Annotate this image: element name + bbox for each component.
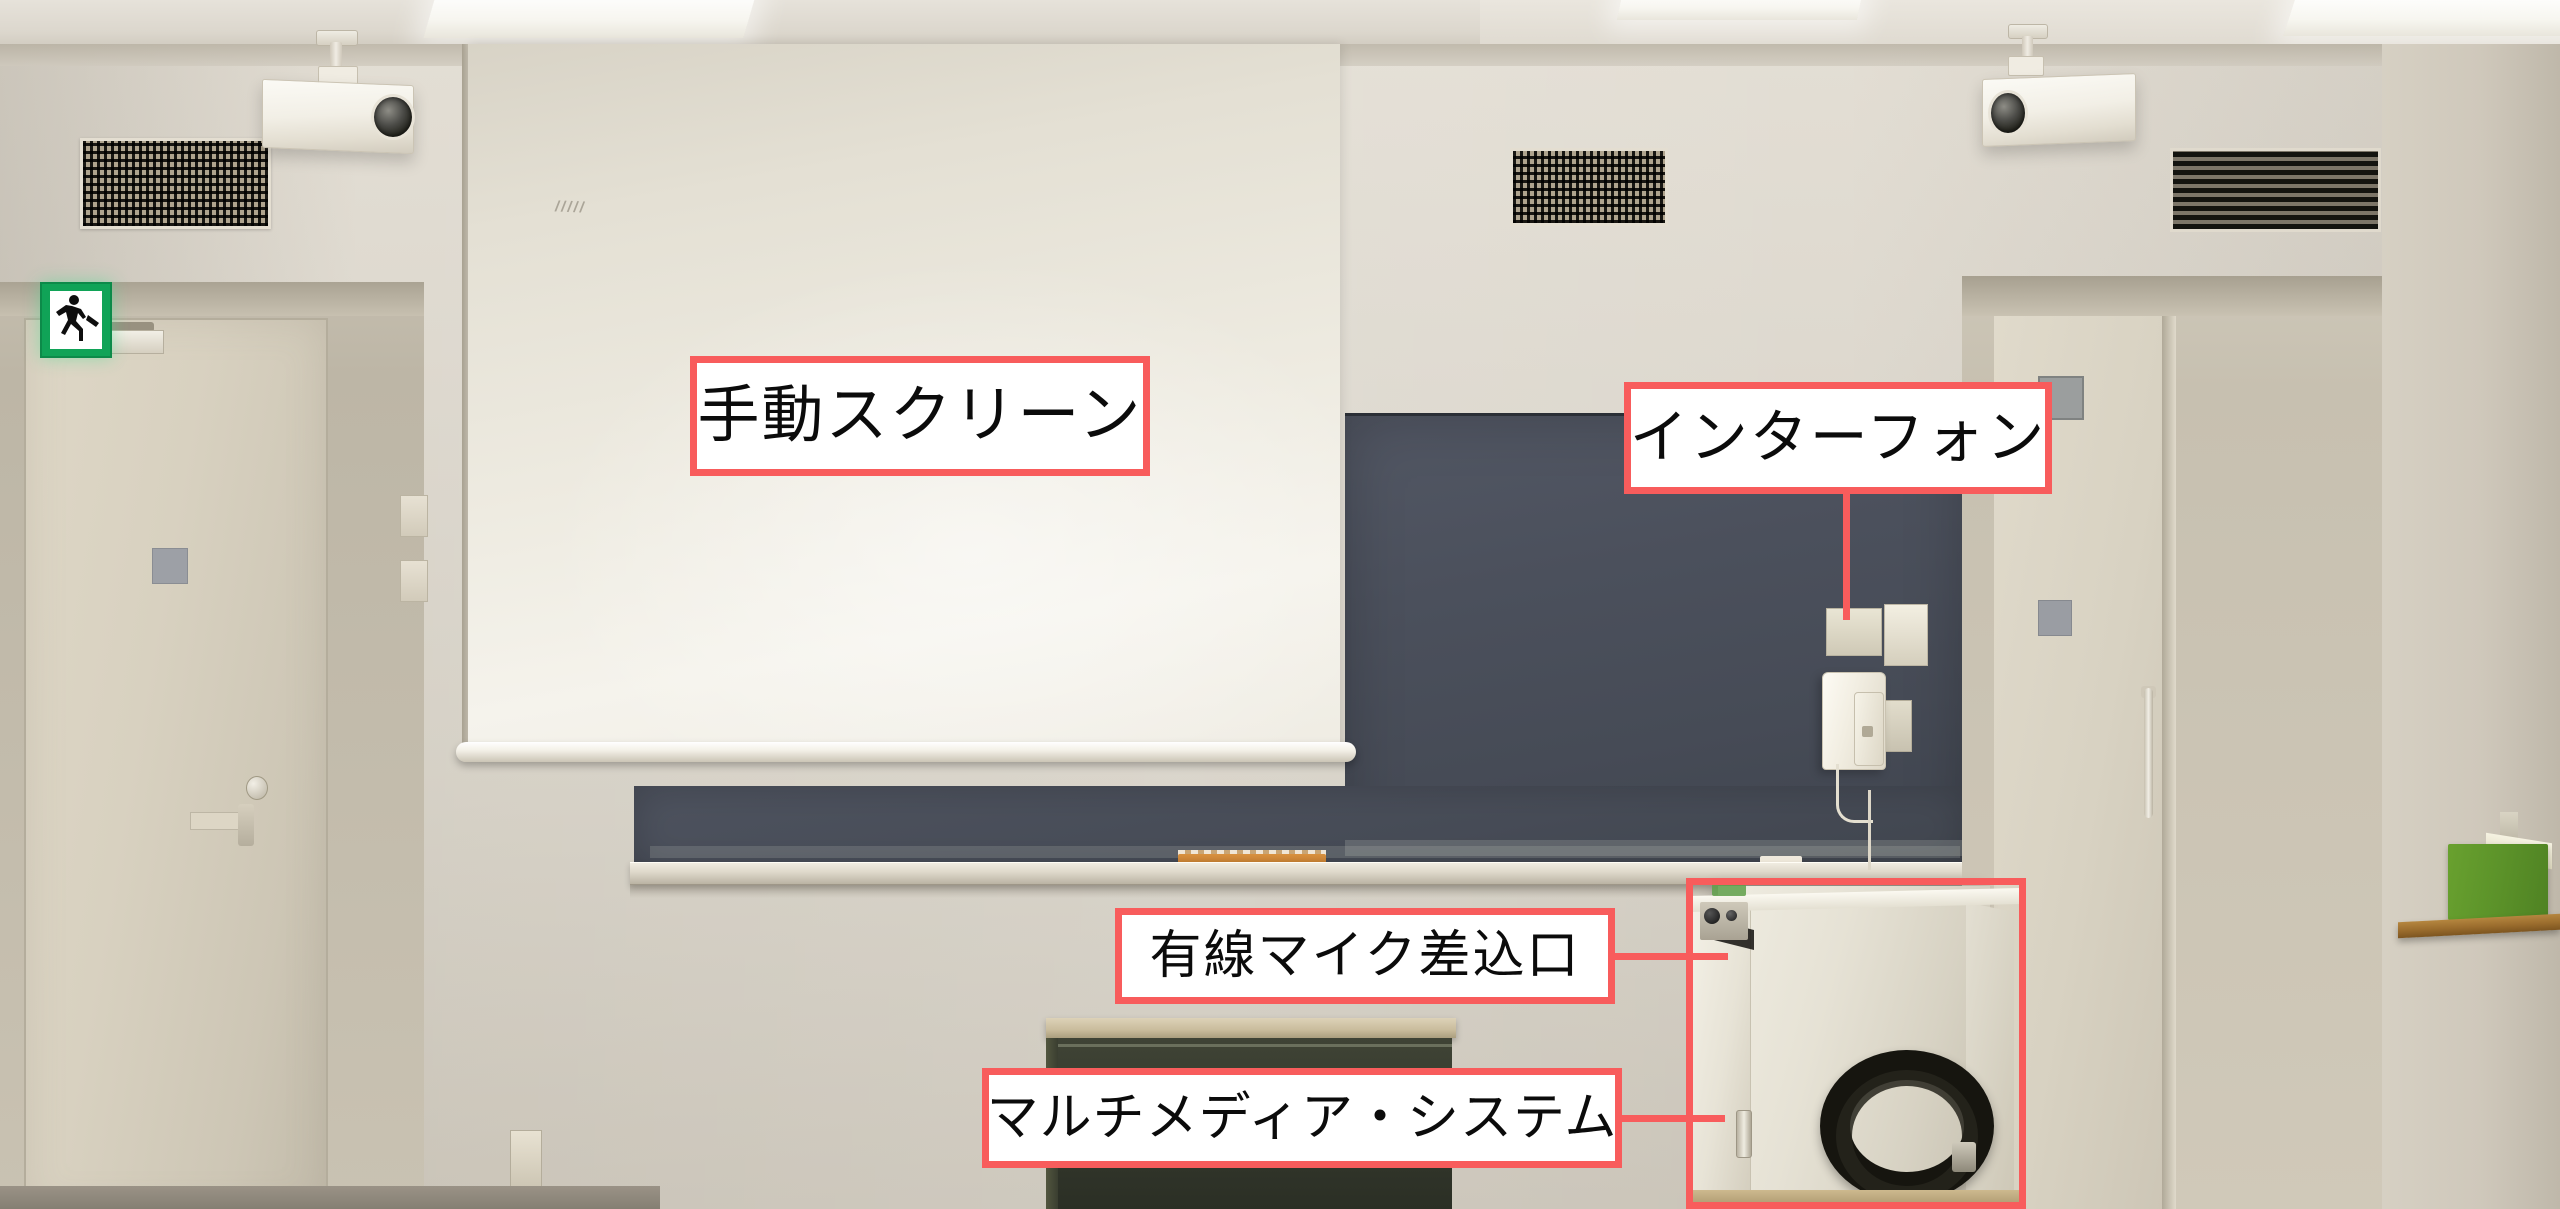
wall-outlet[interactable]	[510, 1130, 542, 1188]
leader-line-multimedia-system	[1615, 1115, 1725, 1122]
projector-mount-rod-left	[330, 42, 342, 68]
hvac-vent-left	[80, 138, 271, 229]
ceiling-light-middle	[1617, 0, 1863, 20]
right-door-jamb	[2162, 316, 2176, 1209]
tissue-box-on-shelf	[2448, 844, 2548, 920]
projector-yoke-right	[2008, 56, 2044, 76]
door-left[interactable]	[24, 318, 328, 1209]
wall-switch-plate-upper[interactable]	[400, 495, 428, 537]
leader-line-wired-mic-jack	[1608, 953, 1728, 960]
vent-grille-icon	[1513, 151, 1665, 223]
lectern-edge-highlight	[1056, 1044, 1452, 1047]
floor-strip	[0, 1186, 660, 1209]
annotation-label-wired-mic-jack: 有線マイク差込口	[1115, 908, 1615, 1004]
screenshot-root: ///// /////	[0, 0, 2560, 1209]
right-outer-wall	[2382, 44, 2560, 1209]
annotation-label-multimedia-system: マルチメディア・システム	[982, 1068, 1622, 1168]
right-door-handle-icon[interactable]	[2144, 688, 2153, 818]
hvac-vent-right	[2170, 148, 2381, 232]
annotation-text-multimedia-system: マルチメディア・システム	[987, 1092, 1618, 1144]
projector-brand-mark-left: /////	[555, 198, 586, 216]
annotation-text-wired-mic-jack: 有線マイク差込口	[1150, 930, 1581, 982]
ceiling-light-right	[2283, 0, 2560, 36]
annotation-label-manual-screen: 手動スクリーン	[690, 356, 1150, 476]
exit-running-man-glyph	[50, 291, 102, 349]
annotation-label-intercom: インターフォン	[1624, 382, 2052, 494]
vent-grille-icon	[83, 141, 268, 226]
intercom-wall-plate	[1826, 608, 1882, 656]
emergency-exit-sign	[40, 282, 112, 358]
projector-lens-icon-left	[371, 94, 415, 140]
door-knob-icon[interactable]	[246, 776, 268, 800]
running-man-icon	[50, 291, 102, 349]
right-door-vision-panel	[2038, 600, 2072, 636]
intercom-call-button[interactable]	[1862, 726, 1873, 737]
screen-bottom-bar[interactable]	[456, 742, 1356, 762]
annotation-text-manual-screen: 手動スクリーン	[698, 385, 1143, 447]
wall-switch-plate-lower[interactable]	[400, 560, 428, 602]
annotation-text-intercom: インターフォン	[1630, 409, 2047, 467]
intercom-cord-drop	[1868, 790, 1871, 870]
door-vision-panel	[152, 548, 188, 584]
lectern-top	[1046, 1018, 1456, 1038]
right-doorway-header	[1962, 276, 2382, 316]
projector-mount-rod-right	[2022, 36, 2033, 58]
projector-lens-icon-right	[1988, 90, 2028, 136]
hvac-vent-middle	[1510, 148, 1668, 226]
leader-line-intercom	[1843, 494, 1850, 620]
roi-box-multimedia-system	[1686, 878, 2026, 1209]
door-escutcheon	[238, 804, 254, 846]
ceiling-light-left	[423, 0, 756, 38]
vent-louver-icon	[2173, 151, 2378, 229]
intercom-wall-plate-secondary	[1884, 604, 1928, 666]
